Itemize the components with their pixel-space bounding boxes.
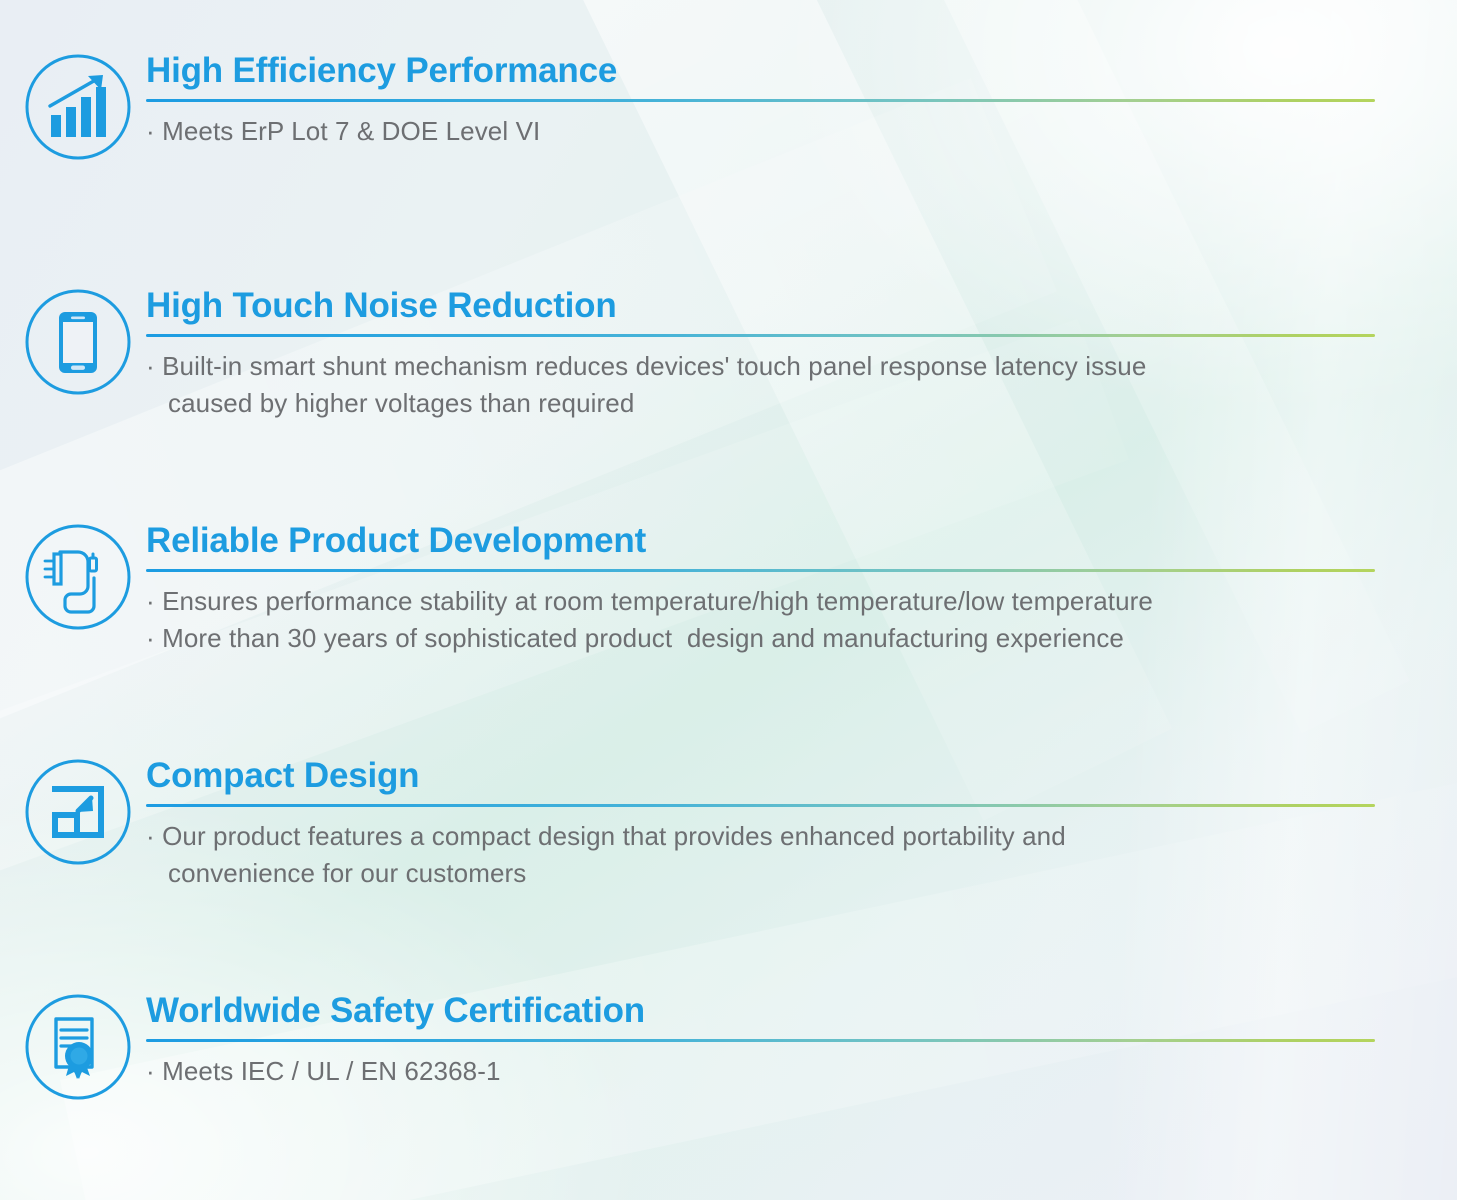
certificate-award-icon bbox=[23, 992, 133, 1102]
compact-resize-icon bbox=[23, 757, 133, 867]
feature-item-high-touch-noise-reduction: High Touch Noise Reduction · Built-in sm… bbox=[0, 287, 1457, 422]
feature-bullet: · Built-in smart shunt mechanism reduces… bbox=[146, 348, 1375, 385]
feature-bullet: · Meets IEC / UL / EN 62368-1 bbox=[146, 1053, 1375, 1090]
feature-divider bbox=[146, 804, 1375, 807]
feature-highlights-page: High Efficiency Performance · Meets ErP … bbox=[0, 0, 1457, 1200]
feature-bullet: caused by higher voltages than required bbox=[146, 385, 1375, 422]
feature-title: Worldwide Safety Certification bbox=[146, 992, 1375, 1030]
feature-title: High Efficiency Performance bbox=[146, 52, 1375, 90]
feature-text-block: High Efficiency Performance · Meets ErP … bbox=[146, 52, 1457, 150]
feature-divider bbox=[146, 99, 1375, 102]
feature-title: Reliable Product Development bbox=[146, 522, 1375, 560]
feature-icon-container bbox=[0, 52, 146, 162]
feature-icon-container bbox=[0, 992, 146, 1102]
feature-item-reliable-product-development: Reliable Product Development · Ensures p… bbox=[0, 522, 1457, 657]
feature-text-block: Reliable Product Development · Ensures p… bbox=[146, 522, 1457, 657]
feature-icon-container bbox=[0, 287, 146, 397]
feature-bullet: · Our product features a compact design … bbox=[146, 818, 1375, 855]
feature-text-block: Worldwide Safety Certification · Meets I… bbox=[146, 992, 1457, 1090]
feature-item-worldwide-safety-certification: Worldwide Safety Certification · Meets I… bbox=[0, 992, 1457, 1102]
feature-item-high-efficiency-performance: High Efficiency Performance · Meets ErP … bbox=[0, 52, 1457, 162]
power-adapter-icon bbox=[23, 522, 133, 632]
feature-bullet: · Meets ErP Lot 7 & DOE Level VI bbox=[146, 113, 1375, 150]
feature-text-block: High Touch Noise Reduction · Built-in sm… bbox=[146, 287, 1457, 422]
feature-item-compact-design: Compact Design · Our product features a … bbox=[0, 757, 1457, 892]
bar-chart-growth-icon bbox=[23, 52, 133, 162]
feature-icon-container bbox=[0, 522, 146, 632]
feature-bullet: convenience for our customers bbox=[146, 855, 1375, 892]
feature-title: High Touch Noise Reduction bbox=[146, 287, 1375, 325]
feature-divider bbox=[146, 569, 1375, 572]
feature-text-block: Compact Design · Our product features a … bbox=[146, 757, 1457, 892]
feature-title: Compact Design bbox=[146, 757, 1375, 795]
feature-icon-container bbox=[0, 757, 146, 867]
smartphone-icon bbox=[23, 287, 133, 397]
feature-bullet: · More than 30 years of sophisticated pr… bbox=[146, 620, 1375, 657]
feature-divider bbox=[146, 1039, 1375, 1042]
feature-divider bbox=[146, 334, 1375, 337]
feature-bullet: · Ensures performance stability at room … bbox=[146, 583, 1375, 620]
